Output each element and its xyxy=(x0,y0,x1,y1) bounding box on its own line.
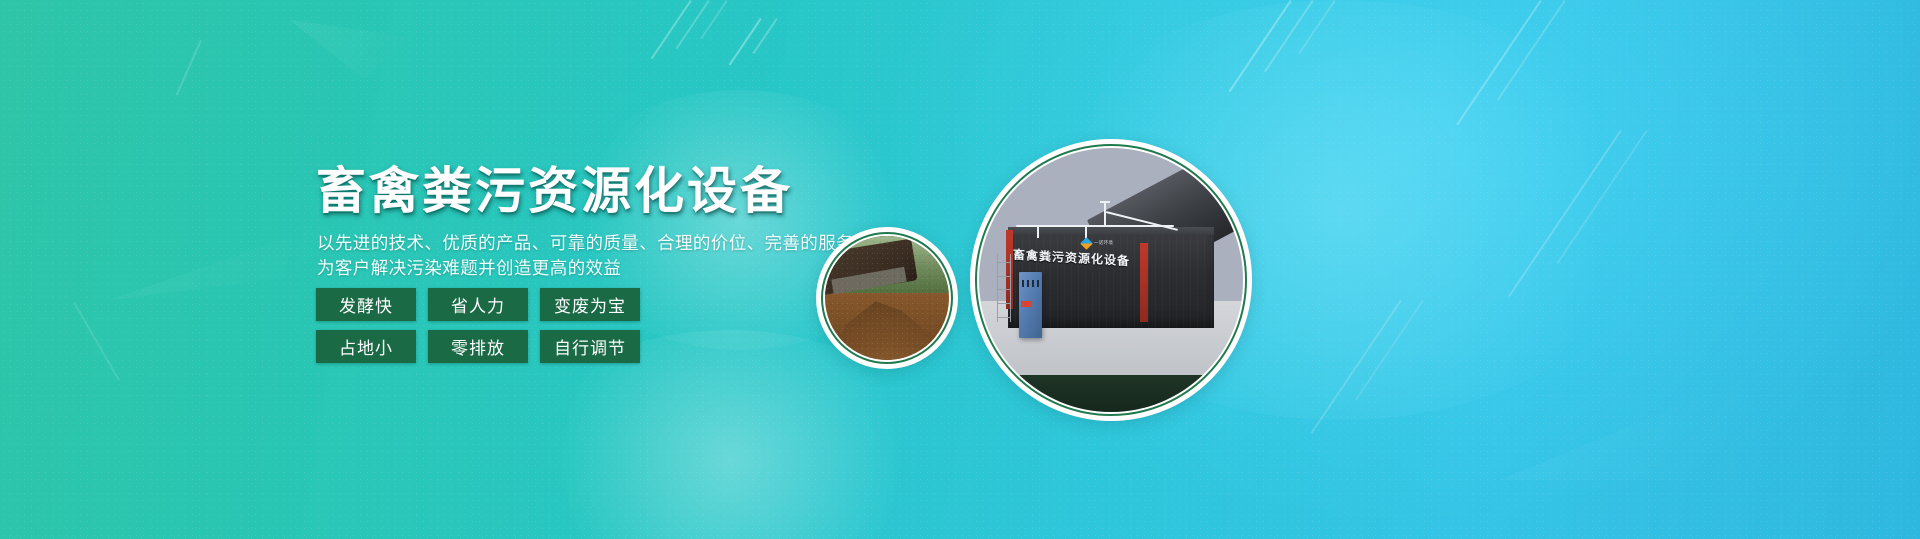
banner-subtitle: 以先进的技术、优质的产品、可靠的质量、合理的价位、完善的服务 为客户解决污染难题… xyxy=(317,231,854,281)
compost-photo xyxy=(825,236,949,360)
feature-tag-fast-fermentation[interactable]: 发酵快 xyxy=(316,288,416,321)
circle-inner-ring-small xyxy=(821,232,953,364)
render-handrail xyxy=(1016,225,1174,227)
background-noise-texture xyxy=(0,0,1920,539)
feature-tag-self-adjusting[interactable]: 自行调节 xyxy=(540,330,640,363)
feature-tag-row-2: 占地小 零排放 自行调节 xyxy=(316,330,676,363)
render-rail-post-3 xyxy=(1104,201,1106,227)
feature-tag-waste-to-treasure[interactable]: 变废为宝 xyxy=(540,288,640,321)
compost-grain-texture xyxy=(825,236,949,360)
subtitle-line-2: 为客户解决污染难题并创造更高的效益 xyxy=(317,256,854,281)
compost-image xyxy=(825,236,949,360)
company-logo: 一诺环境 xyxy=(1082,236,1145,249)
circle-inner-ring-large: 一诺环境 畜禽粪污资源化设备 xyxy=(975,144,1247,416)
page-title: 畜禽粪污资源化设备 xyxy=(316,166,793,216)
render-grass-strip xyxy=(979,375,1243,412)
render-ladder xyxy=(997,254,1010,323)
compost-photo-circle[interactable] xyxy=(816,227,958,369)
subtitle-line-1: 以先进的技术、优质的产品、可靠的质量、合理的价位、完善的服务 xyxy=(317,231,854,256)
light-shard-2 xyxy=(110,230,310,300)
equipment-photo: 一诺环境 畜禽粪污资源化设备 xyxy=(979,148,1243,412)
hero-banner: 畜禽粪污资源化设备 以先进的技术、优质的产品、可靠的质量、合理的价位、完善的服务… xyxy=(0,0,1920,539)
feature-tag-row-1: 发酵快 省人力 变废为宝 xyxy=(316,288,676,321)
render-rail-post-1 xyxy=(1037,225,1039,238)
render-control-cabinet xyxy=(1019,272,1043,338)
cabinet-red-button xyxy=(1021,301,1032,307)
logo-text: 一诺环境 xyxy=(1094,240,1113,246)
feature-tag-labor-saving[interactable]: 省人力 xyxy=(428,288,528,321)
logo-mark-icon xyxy=(1080,237,1093,250)
cabinet-indicator-lights xyxy=(1022,280,1039,287)
feature-tag-small-footprint[interactable]: 占地小 xyxy=(316,330,416,363)
equipment-render-circle[interactable]: 一诺环境 畜禽粪污资源化设备 xyxy=(970,139,1252,421)
feature-tag-list: 发酵快 省人力 变废为宝 占地小 零排放 自行调节 xyxy=(316,288,676,372)
light-shard-3 xyxy=(1500,360,1760,480)
feature-tag-zero-emission[interactable]: 零排放 xyxy=(428,330,528,363)
equipment-3d-render: 一诺环境 畜禽粪污资源化设备 xyxy=(979,148,1243,412)
